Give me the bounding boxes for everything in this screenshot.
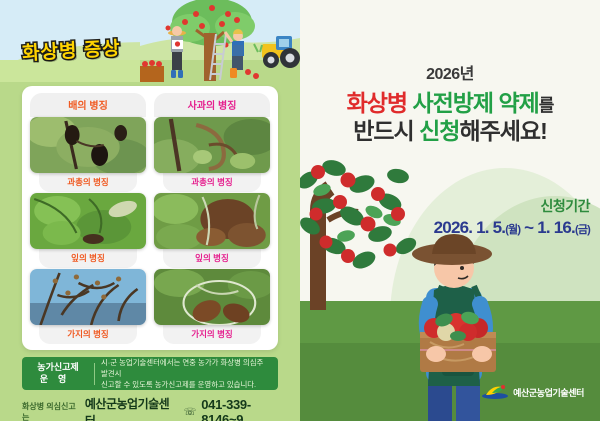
period-start-day: (월) xyxy=(505,224,520,236)
symptom-grid: 과총의 병징 xyxy=(22,117,278,351)
column-header-pear: 배의 병징 xyxy=(30,93,146,117)
left-panel-symptoms: 화상병 증상 배의 병징 사과의 병징 xyxy=(0,0,300,421)
period-separator: ~ xyxy=(520,218,537,237)
symptom-row: 과총의 병징 xyxy=(30,117,270,192)
photo-apple-fruit xyxy=(154,117,270,173)
caption-apple-branch: 가지의 병징 xyxy=(163,325,261,344)
headline-must-word: 반드시 xyxy=(353,118,413,144)
report-text-line2: 신고할 수 있도록 농가신고제를 운영하고 있습니다. xyxy=(101,379,272,390)
photo-pear-leaf xyxy=(30,193,146,249)
symptom-cell-pear-fruit: 과총의 병징 xyxy=(30,117,146,192)
photo-pear-fruit xyxy=(30,117,146,173)
left-banner-title: 화상병 증상 xyxy=(21,33,121,65)
headline-line-2: 반드시 신청해주세요! xyxy=(300,118,600,144)
period-end-day: (금) xyxy=(575,224,590,236)
symptom-row: 잎의 병징 xyxy=(30,193,270,268)
logo-text: 예산군농업기술센터 xyxy=(513,386,584,399)
photo-apple-branch xyxy=(154,269,270,325)
symptom-card: 배의 병징 사과의 병징 xyxy=(22,86,278,350)
caption-pear-fruit: 과총의 병징 xyxy=(39,173,137,192)
report-system-text: 시·군 농업기술센터에서는 연중 농가가 화상병 의심주 발견시 신고할 수 있… xyxy=(101,357,272,390)
caption-apple-fruit: 과총의 병징 xyxy=(163,173,261,192)
headline-disease-word: 화상병 xyxy=(347,90,407,116)
column-header-apple: 사과의 병징 xyxy=(154,93,270,117)
phone-icon: ☏ xyxy=(184,407,197,418)
symptom-cell-pear-branch: 가지의 병징 xyxy=(30,269,146,344)
column-headers: 배의 병징 사과의 병징 xyxy=(22,86,278,117)
report-text-line1: 시·군 농업기술센터에서는 연중 농가가 화상병 의심주 발견시 xyxy=(101,357,272,379)
organization-logo: 예산군농업기술센터 xyxy=(482,385,584,399)
symptom-cell-apple-fruit: 과총의 병징 xyxy=(154,117,270,192)
headline-request-word: 해주세요! xyxy=(459,118,546,144)
report-system-label: 농가신고제 운영 xyxy=(28,362,88,385)
contact-organization: 예산군농업기술센터 xyxy=(85,395,175,421)
report-label-line2: 운영 xyxy=(28,374,88,386)
photo-apple-leaf xyxy=(154,193,270,249)
symptom-row: 가지의 병징 xyxy=(30,269,270,344)
caption-pear-branch: 가지의 병징 xyxy=(39,325,137,344)
headline-particle-1: 를 xyxy=(539,96,554,115)
contact-phone-number[interactable]: 041-339-8146~9 xyxy=(201,397,288,421)
symptom-cell-pear-leaf: 잎의 병징 xyxy=(30,193,146,268)
application-period-value: 2026. 1. 5.(월) ~ 1. 16.(금) xyxy=(434,218,590,238)
symptom-cell-apple-leaf: 잎의 병징 xyxy=(154,193,270,268)
headline-year: 2026년 xyxy=(300,60,600,84)
application-period-block: 신청기간 2026. 1. 5.(월) ~ 1. 16.(금) xyxy=(434,196,590,238)
right-panel-announcement: 2026년 화상병 사전방제 약제를 반드시 신청해주세요! xyxy=(300,0,600,421)
headline-prevention-word: 사전방제 약제 xyxy=(412,90,538,116)
announcement-headline: 2026년 화상병 사전방제 약제를 반드시 신청해주세요! xyxy=(300,60,600,145)
headline-line-1: 화상병 사전방제 약제를 xyxy=(300,90,600,116)
period-start-date: 2026. 1. 5. xyxy=(434,218,506,237)
photo-pear-branch xyxy=(30,269,146,325)
poster-root: 화상병 증상 배의 병징 사과의 병징 xyxy=(0,0,600,421)
application-period-label: 신청기간 xyxy=(434,196,590,216)
logo-mark-icon xyxy=(482,385,508,399)
caption-pear-leaf: 잎의 병징 xyxy=(39,249,137,268)
contact-footer: 화상병 의심신고는 예산군농업기술센터 ☏ 041-339-8146~9 xyxy=(22,395,288,421)
report-label-line1: 농가신고제 xyxy=(28,362,88,374)
symptom-cell-apple-branch: 가지의 병징 xyxy=(154,269,270,344)
contact-prefix: 화상병 의심신고는 xyxy=(22,401,80,421)
orchard-scene-illustration xyxy=(140,0,300,95)
report-divider xyxy=(94,363,95,385)
caption-apple-leaf: 잎의 병징 xyxy=(163,249,261,268)
period-end-date: 1. 16. xyxy=(537,218,575,237)
headline-apply-word: 신청 xyxy=(419,118,459,144)
report-system-box: 농가신고제 운영 시·군 농업기술센터에서는 연중 농가가 화상병 의심주 발견… xyxy=(22,357,278,390)
